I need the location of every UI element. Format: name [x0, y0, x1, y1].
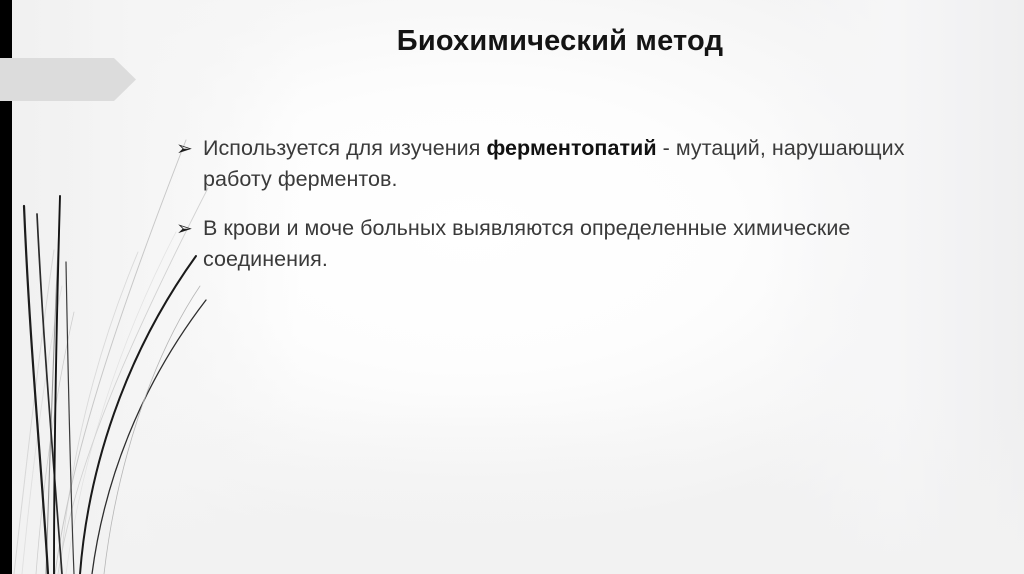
list-item: ➢ Используется для изучения ферментопати… — [176, 133, 976, 195]
text-run: Используется для изучения — [203, 136, 486, 160]
list-item-text: Используется для изучения ферментопатий … — [176, 133, 976, 195]
list-item: ➢ В крови и моче больных выявляются опре… — [176, 213, 976, 275]
background-bottom-wash — [0, 404, 1024, 574]
slide-canvas: Биохимический метод ➢ Используется для и… — [0, 0, 1024, 574]
text-run: В крови и моче больных выявляются опреде… — [203, 216, 850, 271]
text-run-bold: ферментопатий — [486, 136, 656, 160]
arrow-bullet-icon: ➢ — [176, 134, 198, 164]
arrow-bullet-icon: ➢ — [176, 214, 198, 244]
page-title: Биохимический метод — [140, 24, 980, 59]
list-item-text: В крови и моче больных выявляются опреде… — [176, 213, 976, 275]
gray-arrow-banner — [0, 58, 136, 101]
bullet-list: ➢ Используется для изучения ферментопати… — [176, 133, 976, 275]
